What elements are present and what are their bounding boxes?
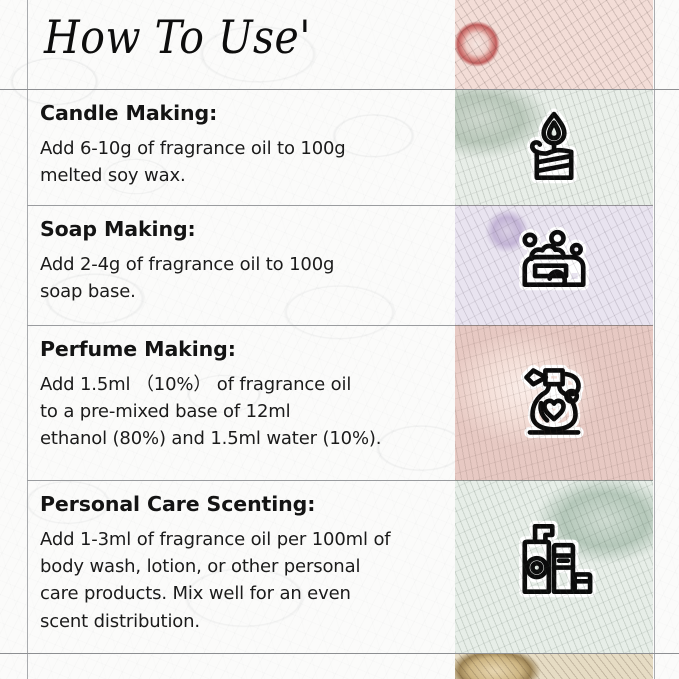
- green-leaves-photo: [455, 480, 653, 653]
- perfume-bottle-icon: [511, 355, 597, 441]
- photo-strip: [455, 0, 653, 679]
- body-line: Add 1-3ml of fragrance oil per 100ml of: [40, 526, 448, 553]
- section-heading: Candle Making:: [40, 101, 448, 127]
- section-heading: Personal Care Scenting:: [40, 492, 448, 518]
- section-candle-making: Candle Making: Add 6-10g of fragrance oi…: [40, 101, 448, 189]
- section-body: Add 2-4g of fragrance oil to 100g soap b…: [40, 251, 448, 306]
- peach-gold-frame-photo: [455, 653, 653, 679]
- body-line: Add 2-4g of fragrance oil to 100g: [40, 251, 448, 278]
- section-body: Add 1-3ml of fragrance oil per 100ml of …: [40, 526, 448, 635]
- body-line: to a pre-mixed base of 12ml: [40, 398, 448, 425]
- lotion-bottles-icon: [511, 516, 597, 602]
- section-heading: Perfume Making:: [40, 337, 448, 363]
- divider-below-title: [0, 89, 679, 90]
- candle-icon: [511, 102, 597, 188]
- right-edge-vertical-rule: [654, 0, 655, 679]
- body-line: care products. Mix well for an even: [40, 580, 448, 607]
- body-line: Add 1.5ml （10%） of fragrance oil: [40, 371, 448, 398]
- how-to-use-infographic: How To Use' Candle Making: Add 6-10g of …: [0, 0, 679, 679]
- divider-soap-perfume: [27, 325, 455, 326]
- sage-leaves-photo: [455, 89, 653, 205]
- roses-and-shears-photo: [455, 0, 653, 89]
- left-column-vertical-rule: [27, 0, 28, 679]
- section-personal-care-scenting: Personal Care Scenting: Add 1-3ml of fra…: [40, 492, 448, 635]
- divider-bottom: [0, 653, 679, 654]
- page-title: How To Use': [44, 14, 311, 62]
- section-heading: Soap Making:: [40, 217, 448, 243]
- body-line: soap base.: [40, 278, 448, 305]
- section-soap-making: Soap Making: Add 2-4g of fragrance oil t…: [40, 217, 448, 305]
- soap-bar-icon: [511, 221, 597, 307]
- divider-perfume-personal-care: [27, 480, 455, 481]
- section-body: Add 1.5ml （10%） of fragrance oil to a pr…: [40, 371, 448, 453]
- divider-candle-soap: [27, 205, 455, 206]
- blush-magnolia-photo: [455, 325, 653, 480]
- lilac-blossoms-photo: [455, 205, 653, 325]
- body-line: ethanol (80%) and 1.5ml water (10%).: [40, 425, 448, 452]
- section-body: Add 6-10g of fragrance oil to 100g melte…: [40, 135, 448, 190]
- body-line: melted soy wax.: [40, 162, 448, 189]
- section-perfume-making: Perfume Making: Add 1.5ml （10%） of fragr…: [40, 337, 448, 453]
- body-line: Add 6-10g of fragrance oil to 100g: [40, 135, 448, 162]
- body-line: scent distribution.: [40, 608, 448, 635]
- body-line: body wash, lotion, or other personal: [40, 553, 448, 580]
